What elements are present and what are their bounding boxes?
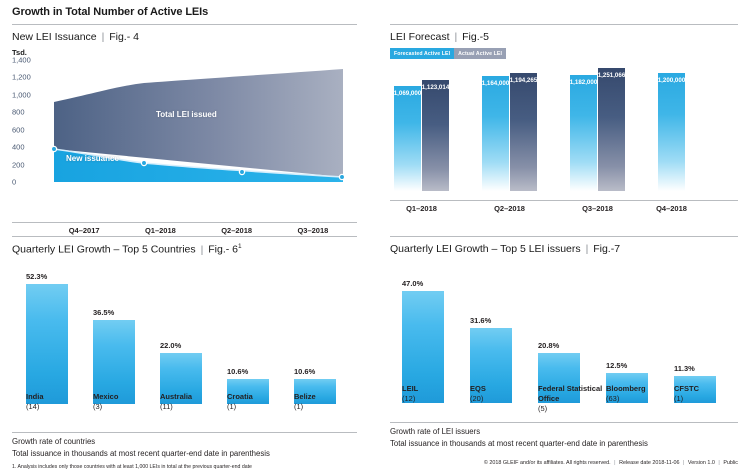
bar-column: 10.6% [294,284,336,404]
y-axis-tick: 1,000 [12,90,46,99]
caption-line: Growth rate of countries [12,436,270,448]
bar-column: 36.5% [93,284,135,404]
x-axis-label: Croatia(1) [227,392,291,412]
bar-actual[interactable]: 1,251,066 [598,68,625,191]
panel-top5-issuers: Quarterly LEI Growth – Top 5 LEI issuers… [390,236,738,466]
legend-item-forecasted[interactable]: Forecasted Active LEI [390,48,454,59]
bar-value-label: 10.6% [294,367,336,376]
x-axis-label-name: India [26,392,90,402]
bar-value-label: 11.3% [674,364,716,373]
caption-line: Total issuance in thousands at most rece… [390,438,648,450]
bar-value-label: 10.6% [227,367,269,376]
fig4-chart: Tsd. 1,4001,2001,0008006004002000 [12,46,357,206]
fig7-plot-area: 47.0%31.6%20.8%12.5%11.3% [390,263,738,403]
x-axis-label: Q3–2018 [582,204,613,213]
x-axis-label-name: Federal Statistical Office [538,384,604,404]
panel-title-text: Quarterly LEI Growth – Top 5 LEI issuers [390,243,581,255]
data-point [339,174,344,179]
bar-value-label: 52.3% [26,272,68,281]
fig4-plot-area: Total LEI issued New issuance [46,60,351,182]
y-axis-tick: 0 [12,178,46,187]
x-axis-label: Q2–2018 [494,204,525,213]
panel-lei-forecast: LEI Forecast | Fig.-5 Forecasted Active … [390,24,738,220]
caption-line: Growth rate of LEI issuers [390,426,648,438]
figure-number: Fig.-5 [462,31,489,43]
footer-release-date: Release date 2018-11-06 [619,460,679,466]
footer-version: Version 1.0 [688,460,715,466]
fig6-footnote: 1. Analysis includes only those countrie… [12,464,252,470]
x-axis-label-name: Mexico [93,392,157,402]
page-footer: © 2018 GLEIF and/or its affiliates. All … [484,460,738,466]
footer-sep: | [612,460,617,466]
x-axis-label-count: (12) [402,394,468,404]
legend-item-actual[interactable]: Actual Active LEI [454,48,506,59]
x-axis-label: Australia(11) [160,392,224,412]
bar-forecasted[interactable]: 1,182,000 [570,75,597,191]
x-axis-label-count: (11) [160,402,224,412]
x-axis-label-count: (5) [538,404,604,414]
report-page: Growth in Total Number of Active LEIs Ne… [0,0,750,472]
bar-column: 22.0% [160,284,202,404]
figure-number: Fig.- 6 [208,244,238,256]
panel-title-text: LEI Forecast [390,31,450,43]
panel-title-text: Quarterly LEI Growth – Top 5 Countries [12,244,196,256]
bar-value-label: 1,251,066 [598,72,626,79]
x-axis-labels: Q1–2018Q2–2018Q3–2018Q4–2018 [390,204,738,218]
panel-divider [390,236,738,237]
fig7-caption: Growth rate of LEI issuersTotal issuance… [390,426,648,450]
bar-value-label: 31.6% [470,316,512,325]
caption-line: Total issuance in thousands at most rece… [12,448,270,460]
bar-actual[interactable]: 1,123,014 [422,80,449,191]
bar-value-label: 22.0% [160,341,202,350]
bar-column: 52.3% [26,284,68,404]
bar-value-label: 1,182,000 [570,79,598,86]
data-point [141,160,146,165]
area-chart-svg [46,60,351,182]
bar-group: 1,182,0001,251,066 [570,63,625,191]
fig5-legend: Forecasted Active LEI Actual Active LEI [390,48,535,59]
x-axis-label-count: (14) [26,402,90,412]
panel-title-fig5: LEI Forecast | Fig.-5 [390,31,738,43]
x-axis-label-name: EQS [470,384,536,394]
title-separator: | [584,243,591,255]
fig5-plot-area: 1,069,0001,123,0141,164,0001,194,2651,18… [390,63,738,191]
series-label-new: New issuance [66,154,119,163]
bar-value-label: 20.8% [538,341,580,350]
bar[interactable] [93,320,135,404]
bar-group: 1,200,000 [658,63,685,191]
x-axis-label: Federal Statistical Office(5) [538,384,604,414]
panel-divider [12,24,357,25]
x-axis-label: Mexico(3) [93,392,157,412]
x-axis-label-count: (1) [294,402,358,412]
y-axis-tick: 1,200 [12,73,46,82]
panel-title-text: New LEI Issuance [12,31,97,43]
panel-divider [12,236,357,237]
title-separator: | [199,244,206,256]
panel-new-lei-issuance: New LEI Issuance | Fig.- 4 Tsd. 1,4001,2… [12,24,357,220]
bar-column: 10.6% [227,284,269,404]
series-label-total: Total LEI issued [156,110,217,119]
x-axis-label-count: (63) [606,394,672,404]
figure-footnote-marker: 1 [238,243,242,250]
bar-value-label: 36.5% [93,308,135,317]
bar-group: 1,069,0001,123,014 [394,63,449,191]
bar-value-label: 1,069,000 [394,90,422,97]
x-axis-label-name: Bloomberg [606,384,672,394]
bar-forecasted[interactable]: 1,164,000 [482,76,509,191]
data-point [239,169,244,174]
x-axis-label-name: CFSTC [674,384,740,394]
x-axis-label: EQS(20) [470,384,536,404]
page-title: Growth in Total Number of Active LEIs [12,6,208,18]
bar-value-label: 1,164,000 [482,80,510,87]
bar-forecasted[interactable]: 1,200,000 [658,73,685,191]
x-axis-line [12,222,357,223]
panel-title-fig7: Quarterly LEI Growth – Top 5 LEI issuers… [390,243,738,255]
x-axis-label-name: Croatia [227,392,291,402]
bar-actual[interactable]: 1,194,265 [510,73,537,191]
bar-group: 1,164,0001,194,265 [482,63,537,191]
panel-title-fig4: New LEI Issuance | Fig.- 4 [12,31,357,43]
x-axis-label-count: (3) [93,402,157,412]
figure-number: Fig.- 4 [109,31,139,43]
x-axis-label-count: (1) [674,394,740,404]
footer-sep: | [716,460,721,466]
fig6-caption: Growth rate of countriesTotal issuance i… [12,436,270,460]
bar-forecasted[interactable]: 1,069,000 [394,86,421,191]
bar-value-label: 1,200,000 [658,77,686,84]
y-axis-tick: 200 [12,160,46,169]
title-separator: | [100,31,107,43]
bar-value-label: 47.0% [402,279,444,288]
x-axis-line [12,432,357,433]
bar-value-label: 12.5% [606,361,648,370]
x-axis-line [390,422,738,423]
x-axis-label: India(14) [26,392,90,412]
title-separator: | [452,31,459,43]
y-axis-tick: 600 [12,125,46,134]
footer-classification: Public [723,460,738,466]
x-axis-label: Q4–2018 [656,204,687,213]
x-axis-line [390,200,738,201]
fig6-plot-area: 52.3%36.5%22.0%10.6%10.6% [12,264,357,404]
x-axis-label: Bloomberg(63) [606,384,672,404]
x-axis-label: Belize(1) [294,392,358,412]
bar-value-label: 1,194,265 [510,77,538,84]
x-axis-label: Q1–2018 [406,204,437,213]
x-axis-label-name: Australia [160,392,224,402]
bar[interactable] [26,284,68,404]
y-axis-tick: 800 [12,108,46,117]
panel-title-fig6: Quarterly LEI Growth – Top 5 Countries |… [12,243,357,256]
x-axis-label: LEIL(12) [402,384,468,404]
x-axis-label: CFSTC(1) [674,384,740,404]
y-axis-tick: 400 [12,143,46,152]
bar-value-label: 1,123,014 [422,84,450,91]
data-point [51,146,56,151]
x-axis-label-name: LEIL [402,384,468,394]
footer-copyright: © 2018 GLEIF and/or its affiliates. All … [484,460,611,466]
figure-number: Fig.-7 [593,243,620,255]
x-axis-label-name: Belize [294,392,358,402]
x-axis-label-count: (1) [227,402,291,412]
y-axis-ticks: 1,4001,2001,0008006004002000 [12,60,46,182]
footer-sep: | [681,460,686,466]
y-axis-tick: 1,400 [12,56,46,65]
panel-top5-countries: Quarterly LEI Growth – Top 5 Countries |… [12,236,357,466]
x-axis-label-count: (20) [470,394,536,404]
panel-divider [390,24,738,25]
